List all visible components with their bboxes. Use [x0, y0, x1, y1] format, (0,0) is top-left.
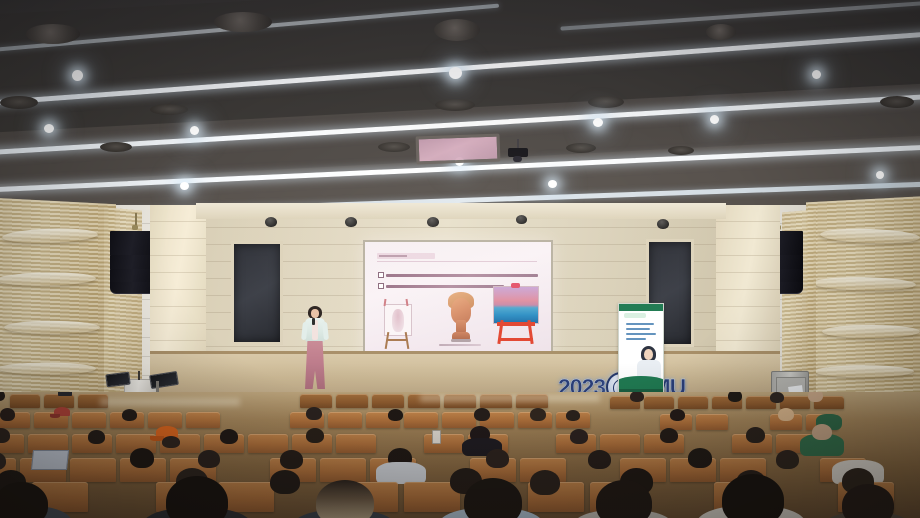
attendee-head: [530, 470, 560, 495]
projection-screen: [363, 240, 553, 359]
wood-acoustic-panel-left: [0, 198, 116, 404]
attendee-head: [770, 392, 784, 403]
slide-title-underline: [377, 261, 537, 262]
banner-badge: [624, 313, 646, 318]
seat[interactable]: [186, 412, 220, 428]
stage-spotlight: [427, 217, 439, 227]
attendee-head: [596, 480, 652, 518]
attendee-head: [776, 450, 799, 469]
attendee-head: [566, 410, 580, 421]
recessed-light: [548, 180, 557, 188]
slide-content: [365, 242, 551, 357]
seat[interactable]: [644, 396, 674, 409]
seat[interactable]: [328, 412, 362, 428]
wall-band: 2023 SMU: [0, 205, 920, 400]
attendee-cap-brim: [50, 414, 60, 418]
slide-title-bar: [377, 253, 435, 259]
attendee-headscarf: [778, 408, 794, 421]
attendee-head: [306, 428, 324, 443]
stage-soffit: [196, 203, 726, 219]
paint-accent: [511, 283, 520, 288]
attendee-cap: [58, 392, 72, 396]
seat[interactable]: [10, 394, 40, 408]
attendee-head: [688, 448, 712, 468]
banner-wave-graphic: [618, 376, 664, 390]
attendee-phone: [432, 430, 441, 444]
seat[interactable]: [442, 412, 476, 428]
wood-acoustic-panel-right: [806, 196, 920, 405]
bullet-text: [386, 285, 504, 288]
ceiling-vent: [880, 96, 914, 108]
attendee-head: [842, 484, 894, 518]
recessed-light: [710, 115, 719, 124]
attendee-head: [88, 430, 105, 444]
lectern-microphone: [138, 371, 140, 380]
attendee-headscarf: [808, 392, 823, 402]
sketch-on-easel: [379, 298, 419, 350]
ceiling-vent: [150, 104, 188, 115]
ceiling-vent: [26, 24, 80, 44]
seat[interactable]: [336, 434, 376, 453]
seat[interactable]: [424, 434, 464, 453]
seat[interactable]: [678, 396, 708, 409]
seat[interactable]: [248, 434, 288, 453]
attendee-head: [0, 408, 15, 421]
attendee-head: [530, 408, 546, 421]
attendee-head: [630, 392, 644, 402]
slide-bullet-1: [378, 272, 540, 278]
attendee-head: [130, 448, 154, 468]
attendee-head: [722, 474, 784, 518]
recessed-light: [593, 118, 603, 127]
ceiling-vent: [434, 19, 480, 41]
seat[interactable]: [300, 394, 332, 408]
attendee-headscarf: [812, 424, 832, 440]
attendee-head: [670, 409, 685, 421]
recessed-light: [44, 124, 54, 133]
attendee-laptop[interactable]: [31, 450, 69, 470]
presenter-arm-right: [322, 322, 329, 340]
seat[interactable]: [336, 394, 368, 408]
floor-light-reflection: [100, 398, 240, 406]
seat[interactable]: [372, 394, 404, 408]
roll-up-banner: [618, 303, 664, 397]
recessed-light: [180, 182, 189, 190]
attendee-head: [220, 429, 238, 444]
stage-spotlight: [345, 217, 357, 227]
painting-canvas: [493, 286, 539, 324]
seat[interactable]: [600, 434, 640, 453]
slide-caption: [439, 344, 481, 346]
recessed-light: [72, 70, 83, 81]
attendee-shoulders: [376, 462, 426, 484]
speaker-bracket-left: [132, 225, 138, 230]
seat[interactable]: [696, 414, 728, 430]
stage-spotlight: [516, 215, 527, 224]
attendee-head: [728, 392, 742, 402]
attendee-head: [464, 478, 522, 518]
seat[interactable]: [320, 458, 366, 482]
ceiling-vent: [588, 96, 624, 108]
blonde-ombre-head: [316, 480, 374, 518]
recessed-light: [449, 67, 462, 79]
microphone: [312, 318, 315, 325]
stage-spotlight: [265, 217, 277, 227]
classical-bust: [443, 292, 479, 346]
ceiling-vent: [706, 24, 736, 40]
stage-spotlight: [657, 219, 669, 229]
attendee-head: [474, 408, 490, 421]
presenter: [300, 306, 330, 390]
banner-text-line: [626, 338, 646, 340]
attendee-head: [388, 409, 403, 421]
bullet-text: [386, 274, 538, 277]
attendee-head: [198, 450, 220, 468]
presenter-pants: [305, 341, 325, 389]
seat[interactable]: [44, 394, 74, 408]
lectern-monitor-right: [149, 371, 179, 389]
attendee-head: [486, 449, 509, 468]
attendee-head: [280, 450, 303, 469]
banner-text-line: [626, 328, 650, 330]
attendee-head: [162, 436, 180, 448]
dark-display-panel-left: [231, 241, 283, 345]
banner-person-face: [644, 349, 653, 360]
attendee-head: [746, 427, 765, 443]
pink-ceiling-panel: [416, 134, 501, 165]
ceiling-vent: [566, 143, 596, 153]
projector-lens: [513, 156, 522, 162]
seat[interactable]: [404, 412, 438, 428]
banner-text-line: [626, 323, 654, 325]
attendee-head: [270, 470, 300, 494]
ceiling: [0, 0, 920, 215]
recessed-light: [876, 171, 884, 179]
attendee-head: [660, 428, 678, 443]
audience-area: [0, 392, 920, 518]
attendee-head: [306, 407, 322, 420]
seascape-painting-on-easel: [489, 282, 543, 348]
seat[interactable]: [72, 412, 106, 428]
ceiling-vent: [435, 99, 475, 111]
attendee-head: [122, 409, 137, 421]
seat[interactable]: [70, 458, 116, 482]
attendee-head: [570, 429, 588, 444]
ceiling-vent: [0, 96, 38, 109]
floor-light-reflection: [420, 394, 600, 402]
checkbox-icon: [378, 272, 384, 278]
stage-edge: [150, 351, 780, 354]
recessed-light: [190, 126, 199, 135]
checkbox-icon: [378, 283, 384, 289]
ceiling-vent: [668, 146, 694, 155]
ceiling-vent: [214, 12, 272, 32]
presenter-face: [311, 309, 319, 318]
attendee-head: [588, 450, 611, 469]
ceiling-vent: [100, 142, 132, 152]
banner-header-bar: [619, 304, 663, 311]
recessed-light: [812, 70, 821, 79]
ceiling-vent: [378, 142, 410, 152]
auditorium-photo: 2023 SMU: [0, 0, 920, 518]
banner-text-line: [626, 333, 656, 335]
